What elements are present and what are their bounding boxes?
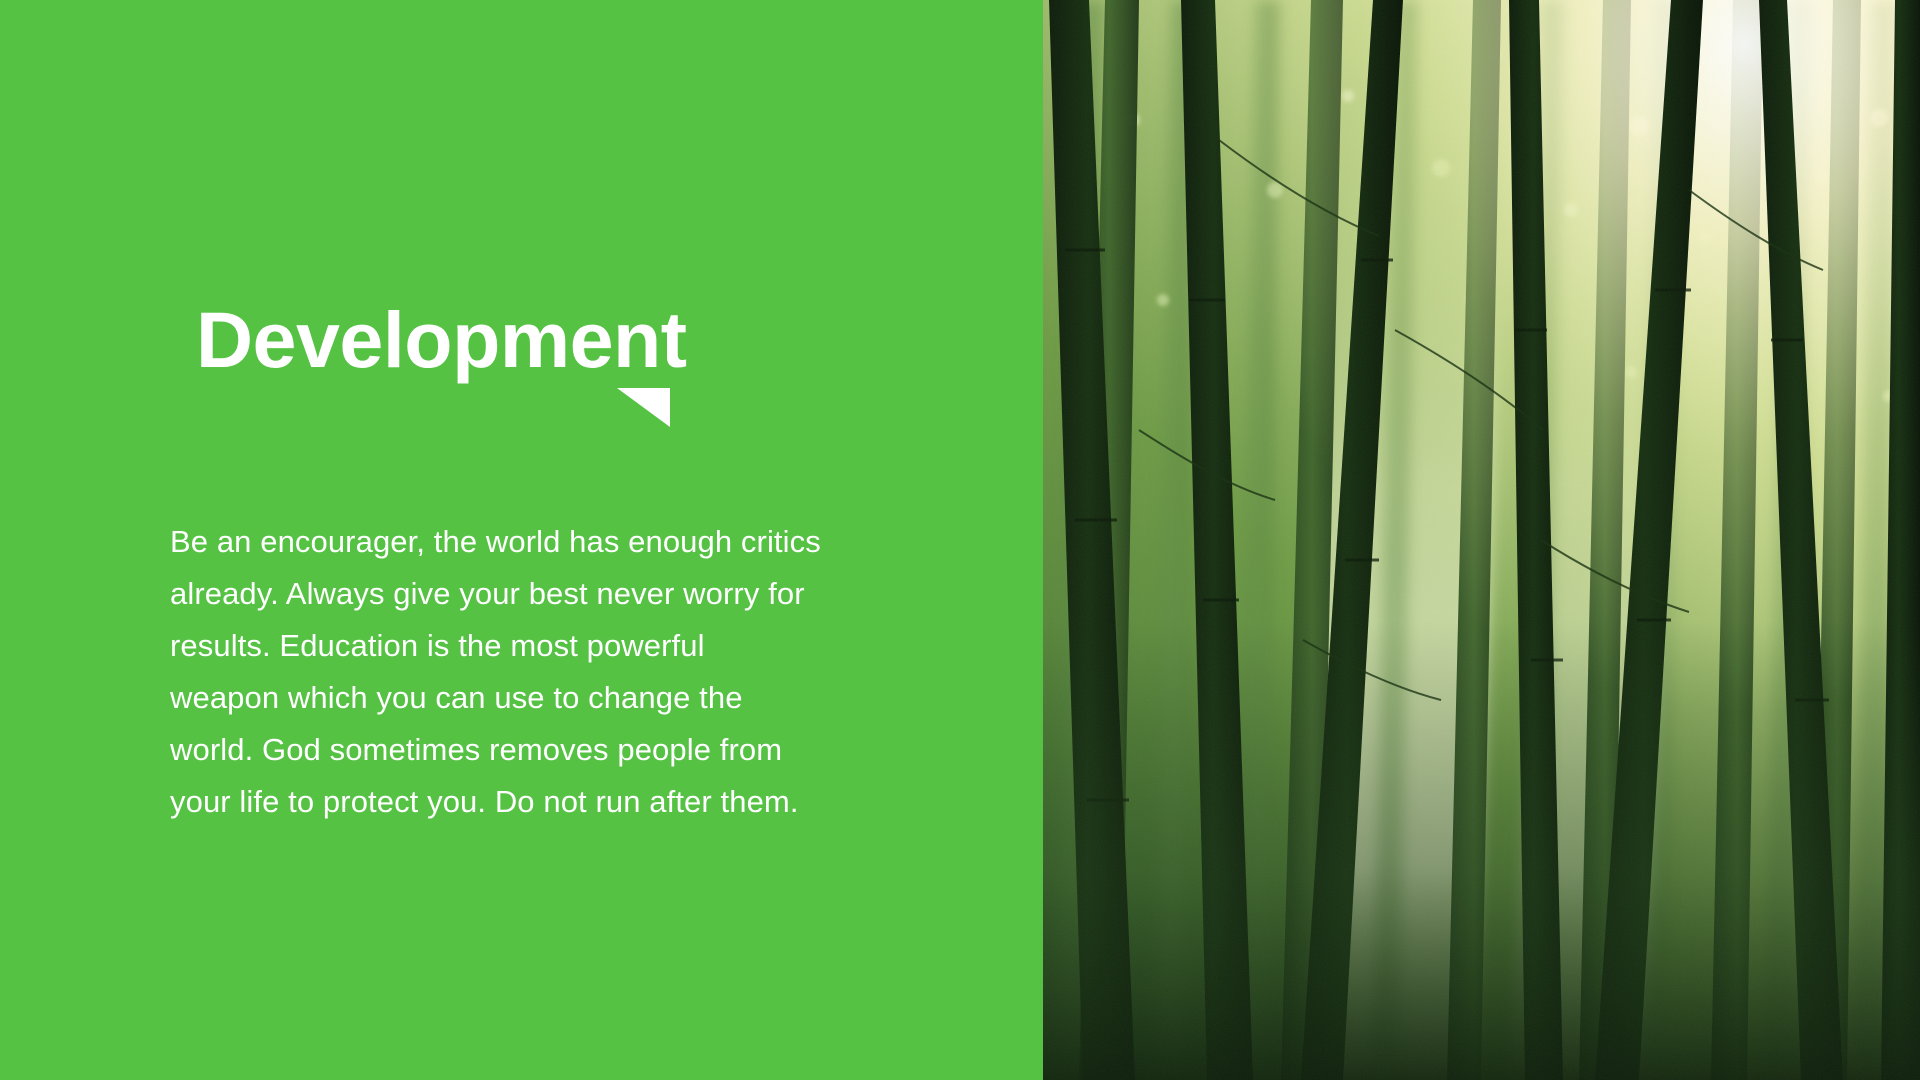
page-title: Development <box>196 300 687 379</box>
body-line: your life to protect you. Do not run aft… <box>170 776 890 828</box>
body-line: world. God sometimes removes people from <box>170 724 890 776</box>
triangle-accent-icon <box>617 388 670 427</box>
presentation-slide: Development Be an encourager, the world … <box>0 0 1920 1080</box>
body-paragraph: Be an encourager, the world has enough c… <box>170 516 890 828</box>
bamboo-forest-illustration <box>1043 0 1920 1080</box>
body-line: Be an encourager, the world has enough c… <box>170 516 890 568</box>
body-line: already. Always give your best never wor… <box>170 568 890 620</box>
content-panel: Development Be an encourager, the world … <box>0 0 1043 1080</box>
body-line: results. Education is the most powerful <box>170 620 890 672</box>
body-line: weapon which you can use to change the <box>170 672 890 724</box>
bamboo-forest-image <box>1043 0 1920 1080</box>
